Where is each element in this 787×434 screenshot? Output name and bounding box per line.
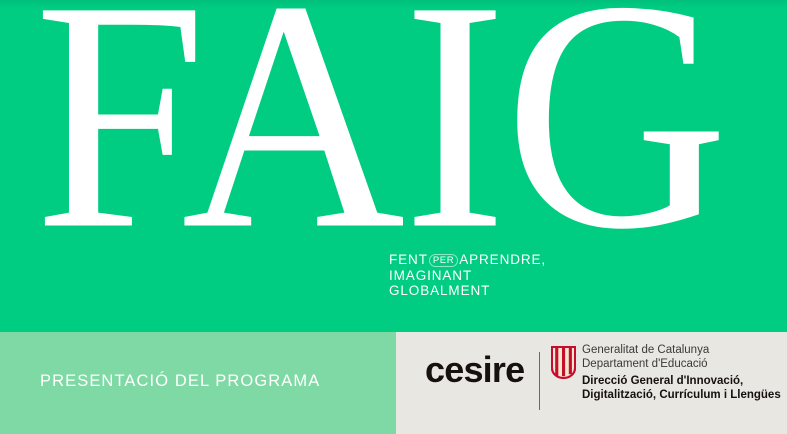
tagline-line-2: IMAGINANT (389, 268, 546, 284)
tagline-fent-text: FENT (389, 252, 428, 267)
presentation-slide: FAIG FENTPERAPRENDRE, IMAGINANT GLOBALME… (0, 0, 787, 434)
generalitat-line-3: Direcció General d'Innovació, (582, 374, 781, 388)
generalitat-line-1: Generalitat de Catalunya (582, 344, 781, 358)
bottom-bar: PRESENTACIÓ DEL PROGRAMA cesire Generali… (0, 332, 787, 434)
logo-panel: cesire Generalitat de Catalunya Departam… (396, 332, 787, 434)
tagline-per-badge: PER (429, 254, 458, 267)
hero-section: FAIG FENTPERAPRENDRE, IMAGINANT GLOBALME… (0, 0, 787, 332)
cesire-logo: cesire (425, 350, 524, 390)
hero-tagline: FENTPERAPRENDRE, IMAGINANT GLOBALMENT (389, 252, 546, 299)
senyera-shield-icon (551, 346, 576, 379)
generalitat-line-2: Departament d'Educació (582, 358, 781, 372)
section-label-panel: PRESENTACIÓ DEL PROGRAMA (0, 332, 396, 434)
faig-wordmark: FAIG (34, 0, 726, 281)
section-label: PRESENTACIÓ DEL PROGRAMA (40, 372, 320, 391)
generalitat-text-block: Generalitat de Catalunya Departament d'E… (582, 344, 781, 402)
tagline-aprendre-text: APRENDRE, (459, 252, 546, 267)
generalitat-line-4: Digitalització, Currículum i Llengües (582, 388, 781, 402)
tagline-line-3: GLOBALMENT (389, 283, 546, 299)
tagline-line-1: FENTPERAPRENDRE, (389, 252, 546, 268)
logo-divider (539, 352, 540, 410)
